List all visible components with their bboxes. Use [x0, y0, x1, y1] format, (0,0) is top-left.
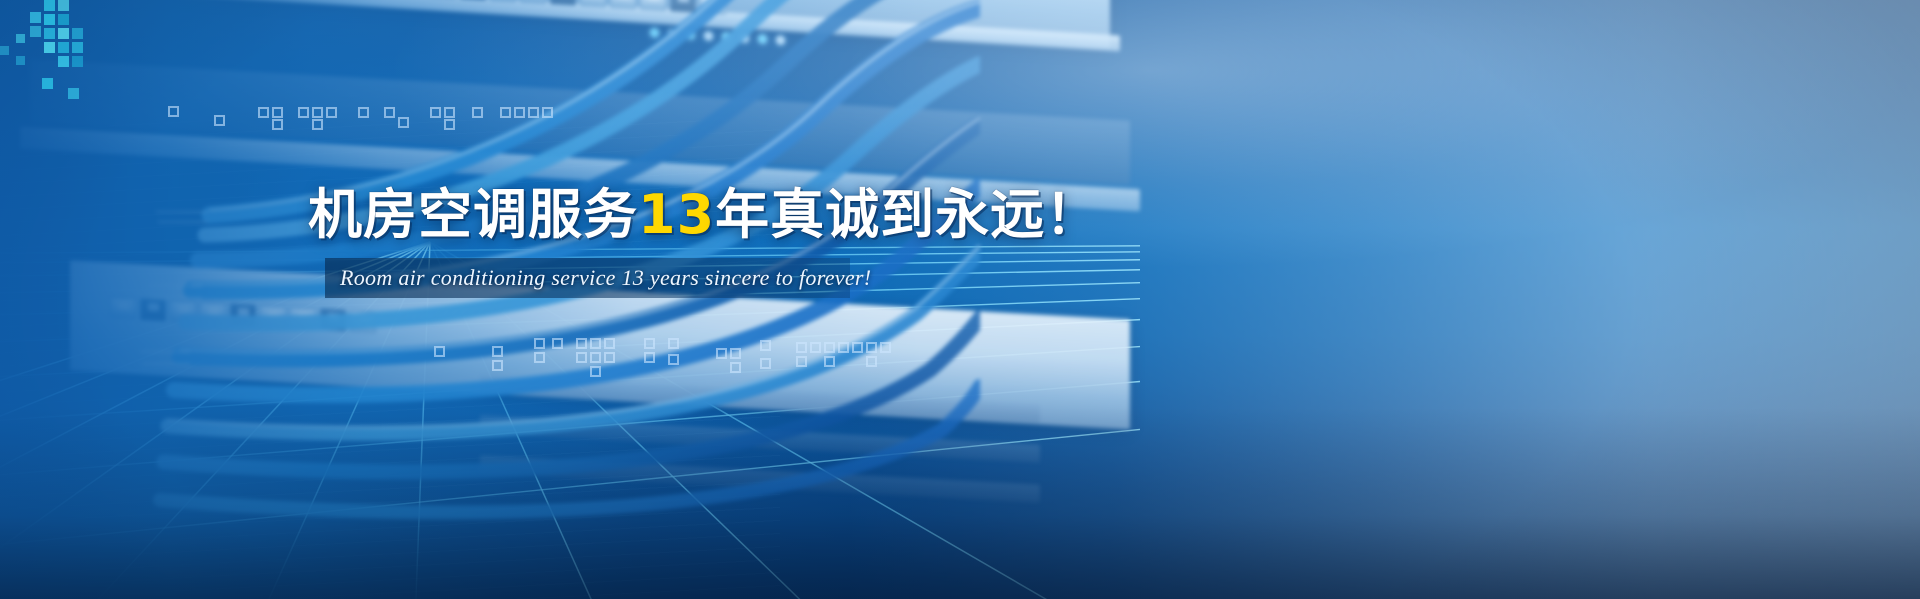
hero-banner: 机房空调服务13年真诚到永远！ Room air conditioning se…: [0, 0, 1920, 599]
vignette-overlay: [0, 0, 1920, 599]
